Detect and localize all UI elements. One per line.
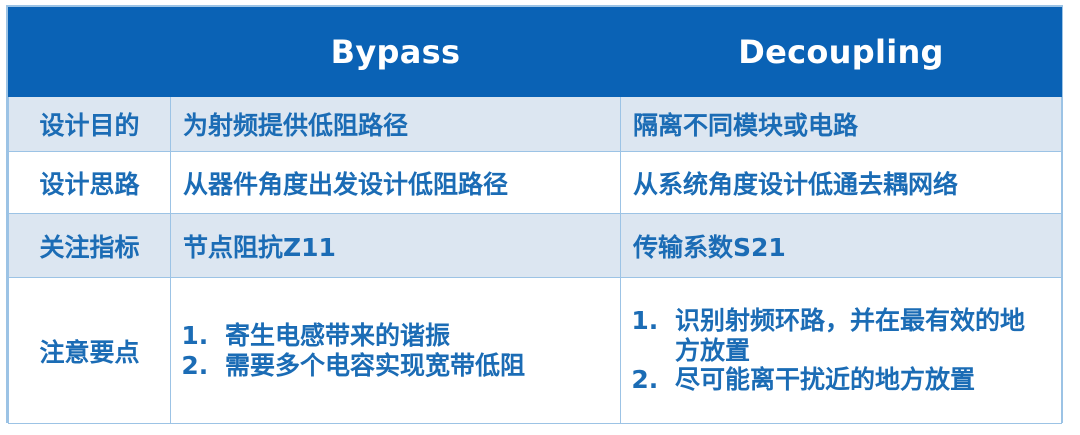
table-row: 关注指标 节点阻抗Z11 传输系数S21 (9, 214, 1062, 278)
cell-bypass-key-notes: 寄生电感带来的谐振 需要多个电容实现宽带低阻 (171, 278, 621, 424)
bypass-decoupling-comparison-table: Bypass Decoupling 设计目的 为射频提供低阻路径 隔离不同模块或… (8, 7, 1062, 424)
table-header-row: Bypass Decoupling (9, 8, 1062, 97)
list-item: 寄生电感带来的谐振 (217, 321, 608, 351)
bypass-notes-list: 寄生电感带来的谐振 需要多个电容实现宽带低阻 (183, 321, 608, 380)
row-label-key-metric: 关注指标 (9, 214, 171, 278)
list-item: 需要多个电容实现宽带低阻 (217, 351, 608, 381)
table-row: 设计目的 为射频提供低阻路径 隔离不同模块或电路 (9, 97, 1062, 152)
cell-bypass-design-approach: 从器件角度出发设计低阻路径 (171, 152, 621, 214)
row-label-design-purpose: 设计目的 (9, 97, 171, 152)
cell-bypass-design-purpose: 为射频提供低阻路径 (171, 97, 621, 152)
column-header-decoupling: Decoupling (621, 8, 1062, 97)
cell-decoupling-design-purpose: 隔离不同模块或电路 (621, 97, 1062, 152)
list-item: 识别射频环路，并在最有效的地方放置 (667, 306, 1049, 365)
comparison-table-container: Bypass Decoupling 设计目的 为射频提供低阻路径 隔离不同模块或… (6, 5, 1063, 423)
table-row: 注意要点 寄生电感带来的谐振 需要多个电容实现宽带低阻 识别射频环路，并在最有效… (9, 278, 1062, 424)
row-label-design-approach: 设计思路 (9, 152, 171, 214)
cell-decoupling-design-approach: 从系统角度设计低通去耦网络 (621, 152, 1062, 214)
decoupling-notes-list: 识别射频环路，并在最有效的地方放置 尽可能离干扰近的地方放置 (633, 306, 1049, 395)
cell-decoupling-key-metric: 传输系数S21 (621, 214, 1062, 278)
table-row: 设计思路 从器件角度出发设计低阻路径 从系统角度设计低通去耦网络 (9, 152, 1062, 214)
table-corner-cell (9, 8, 171, 97)
cell-bypass-key-metric: 节点阻抗Z11 (171, 214, 621, 278)
cell-decoupling-key-notes: 识别射频环路，并在最有效的地方放置 尽可能离干扰近的地方放置 (621, 278, 1062, 424)
column-header-bypass: Bypass (171, 8, 621, 97)
list-item: 尽可能离干扰近的地方放置 (667, 365, 1049, 395)
row-label-key-notes: 注意要点 (9, 278, 171, 424)
